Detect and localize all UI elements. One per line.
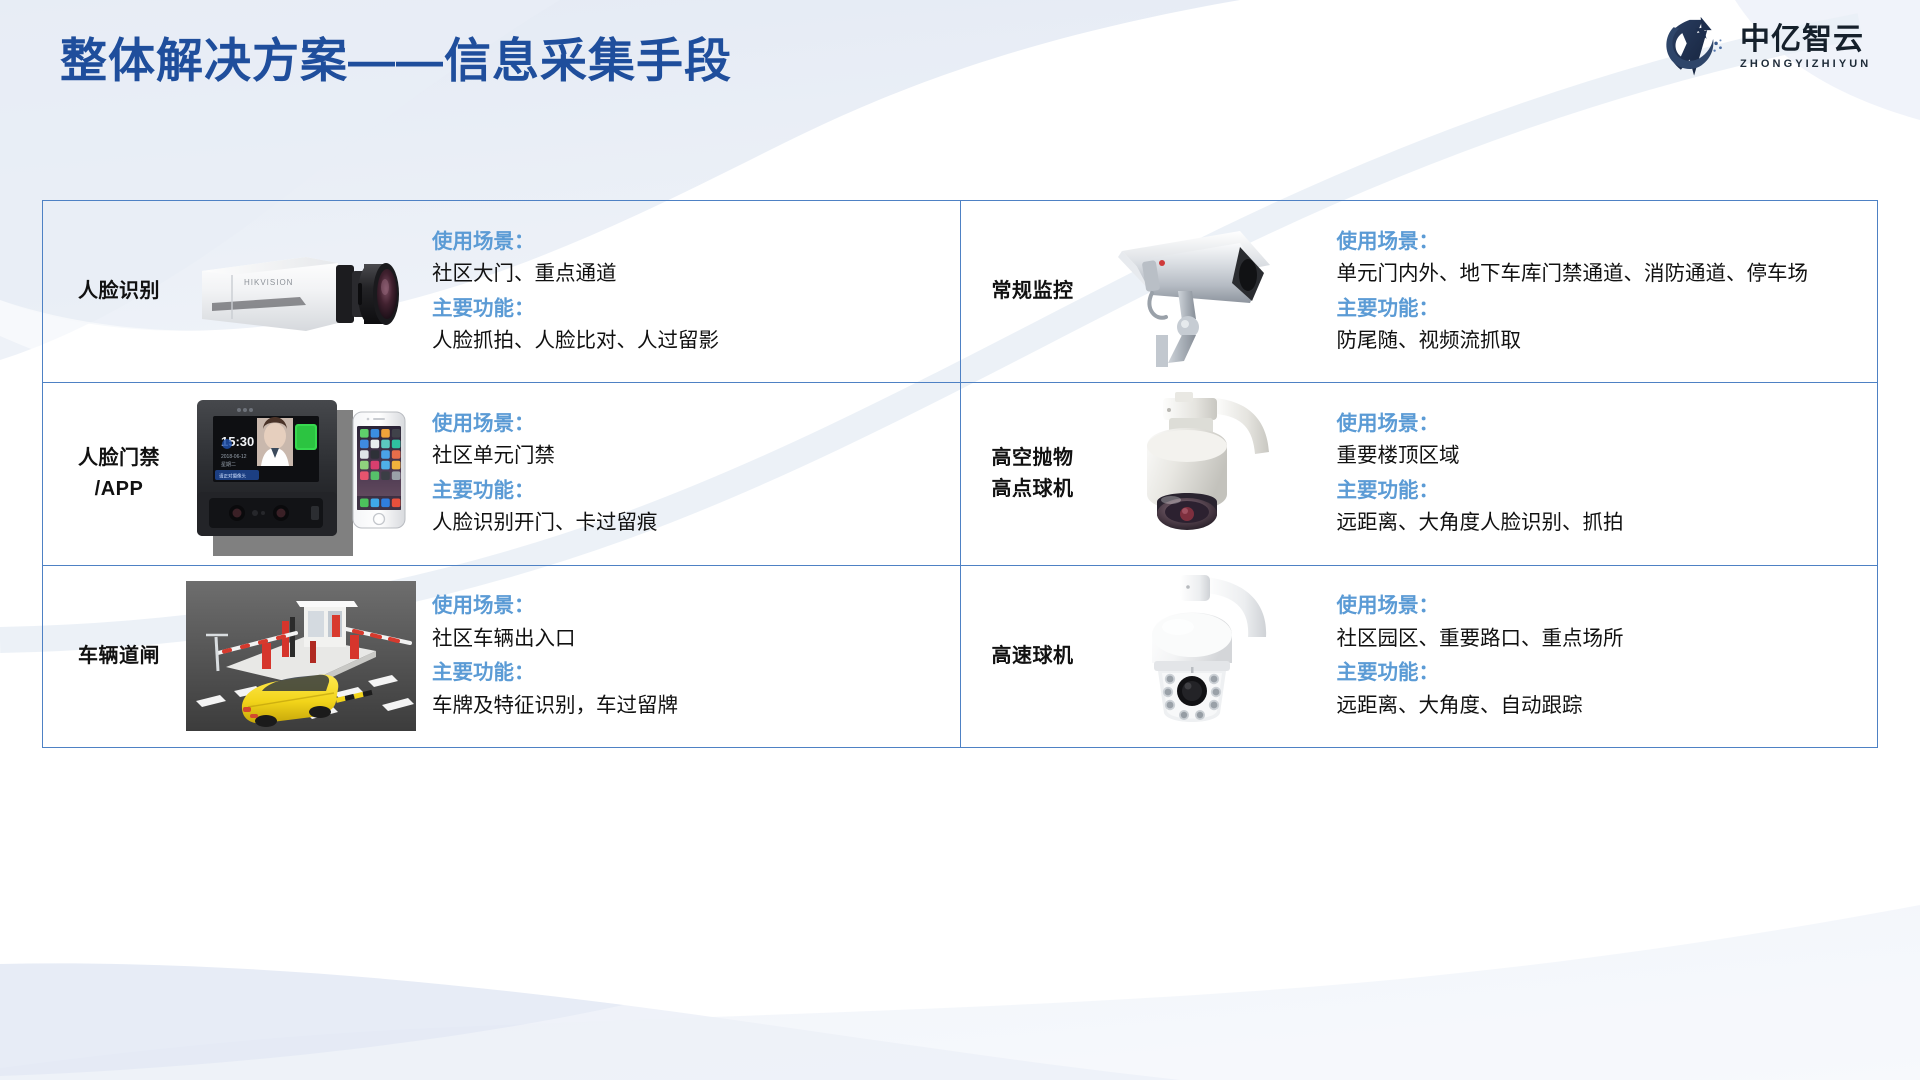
ptz-dome-camera-icon bbox=[1103, 390, 1313, 558]
matrix-cell-face-access-control: 人脸门禁 /APP bbox=[43, 383, 961, 564]
cell-label: 常规监控 bbox=[965, 276, 1093, 307]
brand-logo: 中亿智云 ZHONGYIZHIYUN bbox=[1660, 10, 1898, 84]
bullet-camera-icon bbox=[1100, 217, 1315, 367]
ptz-dome-camera-image bbox=[1093, 383, 1323, 564]
barrier-gate-with-car-icon bbox=[186, 581, 416, 731]
matrix-cell-vehicle-barrier-gate: 车辆道闸 bbox=[43, 566, 961, 747]
function-value: 远距离、大角度、自动跟踪 bbox=[1337, 696, 1874, 717]
scene-value: 社区大门、重点通道 bbox=[432, 264, 956, 285]
logo-text-block: 中亿智云 ZHONGYIZHIYUN bbox=[1740, 24, 1871, 70]
function-value: 人脸抓拍、人脸比对、人过留影 bbox=[432, 331, 956, 352]
cell-label: 高速球机 bbox=[965, 641, 1093, 672]
logo-company-name: 中亿智云 bbox=[1740, 24, 1871, 55]
scene-heading: 使用场景： bbox=[432, 232, 956, 253]
cell-label: 车辆道闸 bbox=[47, 641, 183, 672]
scene-heading: 使用场景： bbox=[1337, 414, 1874, 435]
function-value: 车牌及特征识别，车过留牌 bbox=[432, 696, 956, 717]
scene-heading: 使用场景： bbox=[432, 414, 956, 435]
svg-text:星期二: 星期二 bbox=[221, 462, 236, 468]
solution-matrix-table: 人脸识别 bbox=[42, 200, 1878, 748]
function-heading: 主要功能： bbox=[432, 663, 956, 684]
function-heading: 主要功能： bbox=[432, 481, 956, 502]
cell-text: 使用场景： 社区园区、重要路口、重点场所 主要功能： 远距离、大角度、自动跟踪 bbox=[1323, 596, 1874, 716]
cell-label-line2: /APP bbox=[55, 474, 183, 505]
cell-label-line1: 车辆道闸 bbox=[78, 645, 160, 667]
cell-label-line1: 高空抛物 bbox=[992, 447, 1074, 469]
cell-text: 使用场景： 重要楼顶区域 主要功能： 远距离、大角度人脸识别、抓拍 bbox=[1323, 414, 1874, 534]
scene-value: 重要楼顶区域 bbox=[1337, 446, 1874, 467]
scene-heading: 使用场景： bbox=[432, 596, 956, 617]
cell-text: 使用场景： 社区单元门禁 主要功能： 人脸识别开门、卡过留痕 bbox=[418, 414, 956, 534]
cell-text: 使用场景： 单元门内外、地下车库门禁通道、消防通道、停车场 主要功能： 防尾随、… bbox=[1323, 232, 1874, 352]
slide-header: 整体解决方案——信息采集手段 中亿智云 ZHONGY bbox=[0, 0, 1920, 120]
barrier-gate-image bbox=[183, 566, 418, 747]
bullet-camera-image bbox=[1093, 201, 1323, 382]
box-camera-image: HIKVISION bbox=[183, 201, 418, 382]
matrix-cell-speed-dome: 高速球机 bbox=[961, 566, 1878, 747]
scene-heading: 使用场景： bbox=[1337, 232, 1874, 253]
svg-text:请正对摄像头: 请正对摄像头 bbox=[219, 472, 246, 479]
cell-label-line1: 人脸门禁 bbox=[78, 447, 160, 469]
function-heading: 主要功能： bbox=[432, 299, 956, 320]
scene-heading: 使用场景： bbox=[1337, 596, 1874, 617]
table-row: 人脸门禁 /APP bbox=[43, 383, 1877, 565]
ir-speed-dome-camera-icon bbox=[1108, 571, 1308, 741]
cell-label-line1: 高速球机 bbox=[992, 645, 1074, 667]
ir-speed-dome-image bbox=[1093, 566, 1323, 747]
matrix-cell-face-recognition: 人脸识别 bbox=[43, 201, 961, 382]
scene-value: 单元门内外、地下车库门禁通道、消防通道、停车场 bbox=[1337, 264, 1874, 285]
svg-text:2018-06-12: 2018-06-12 bbox=[221, 454, 247, 460]
function-heading: 主要功能： bbox=[1337, 663, 1874, 684]
matrix-cell-general-surveillance: 常规监控 bbox=[961, 201, 1878, 382]
face-access-terminal-and-phone-icon: 15:30 2018-06-12 星期二 请正对摄像头 bbox=[185, 388, 417, 560]
cell-text: 使用场景： 社区车辆出入口 主要功能： 车牌及特征识别，车过留牌 bbox=[418, 596, 956, 716]
swoosh-arrow-logo-icon bbox=[1660, 14, 1734, 80]
function-value: 远距离、大角度人脸识别、抓拍 bbox=[1337, 513, 1874, 534]
box-camera-icon: HIKVISION bbox=[188, 227, 413, 357]
cell-label: 高空抛物 高点球机 bbox=[965, 443, 1093, 505]
function-value: 防尾随、视频流抓取 bbox=[1337, 331, 1874, 352]
scene-value: 社区园区、重要路口、重点场所 bbox=[1337, 629, 1874, 650]
cell-label-line2: 高点球机 bbox=[973, 474, 1093, 505]
cell-label: 人脸门禁 /APP bbox=[47, 443, 183, 505]
scene-value: 社区车辆出入口 bbox=[432, 629, 956, 650]
function-heading: 主要功能： bbox=[1337, 299, 1874, 320]
face-access-terminal-image: 15:30 2018-06-12 星期二 请正对摄像头 bbox=[183, 383, 418, 564]
svg-text:HIKVISION: HIKVISION bbox=[244, 278, 293, 287]
table-row: 车辆道闸 bbox=[43, 566, 1877, 747]
page-title: 整体解决方案——信息采集手段 bbox=[60, 22, 732, 91]
cell-text: 使用场景： 社区大门、重点通道 主要功能： 人脸抓拍、人脸比对、人过留影 bbox=[418, 232, 956, 352]
matrix-cell-high-altitude-dome: 高空抛物 高点球机 bbox=[961, 383, 1878, 564]
function-heading: 主要功能： bbox=[1337, 481, 1874, 502]
cell-label: 人脸识别 bbox=[47, 276, 183, 307]
function-value: 人脸识别开门、卡过留痕 bbox=[432, 513, 956, 534]
cell-label-line1: 人脸识别 bbox=[78, 280, 160, 302]
logo-company-pinyin: ZHONGYIZHIYUN bbox=[1740, 58, 1871, 70]
scene-value: 社区单元门禁 bbox=[432, 446, 956, 467]
table-row: 人脸识别 bbox=[43, 201, 1877, 383]
cell-label-line1: 常规监控 bbox=[992, 280, 1074, 302]
